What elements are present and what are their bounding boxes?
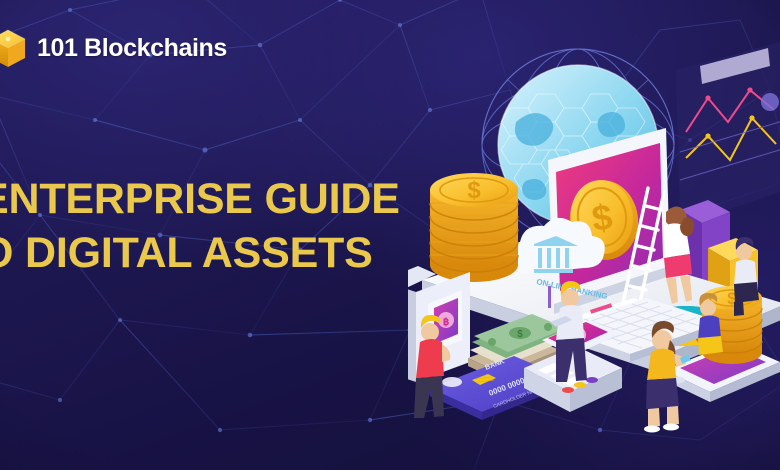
brand-logo[interactable]: 101 Blockchains <box>0 26 227 70</box>
svg-text:$: $ <box>467 177 481 204</box>
panel-dot <box>761 93 779 111</box>
brand-name: 101 Blockchains <box>37 36 227 61</box>
svg-text:฿: ฿ <box>443 317 449 328</box>
analytics-panel <box>676 42 780 226</box>
headline-line-1: ENTERPRISE GUIDE <box>0 172 450 226</box>
banner: 101 Blockchains ENTERPRISE GUIDE O DIGIT… <box>0 0 780 470</box>
headline: ENTERPRISE GUIDE O DIGITAL ASSETS <box>0 172 450 280</box>
headline-line-2: O DIGITAL ASSETS <box>0 226 450 280</box>
cube-logo-icon <box>0 26 28 70</box>
digital-assets-illustration: $ ON-LINE BANKING <box>408 40 780 440</box>
card-hologram <box>442 377 462 387</box>
svg-text:$: $ <box>517 329 523 340</box>
coin-stack-left: $ <box>430 173 518 282</box>
